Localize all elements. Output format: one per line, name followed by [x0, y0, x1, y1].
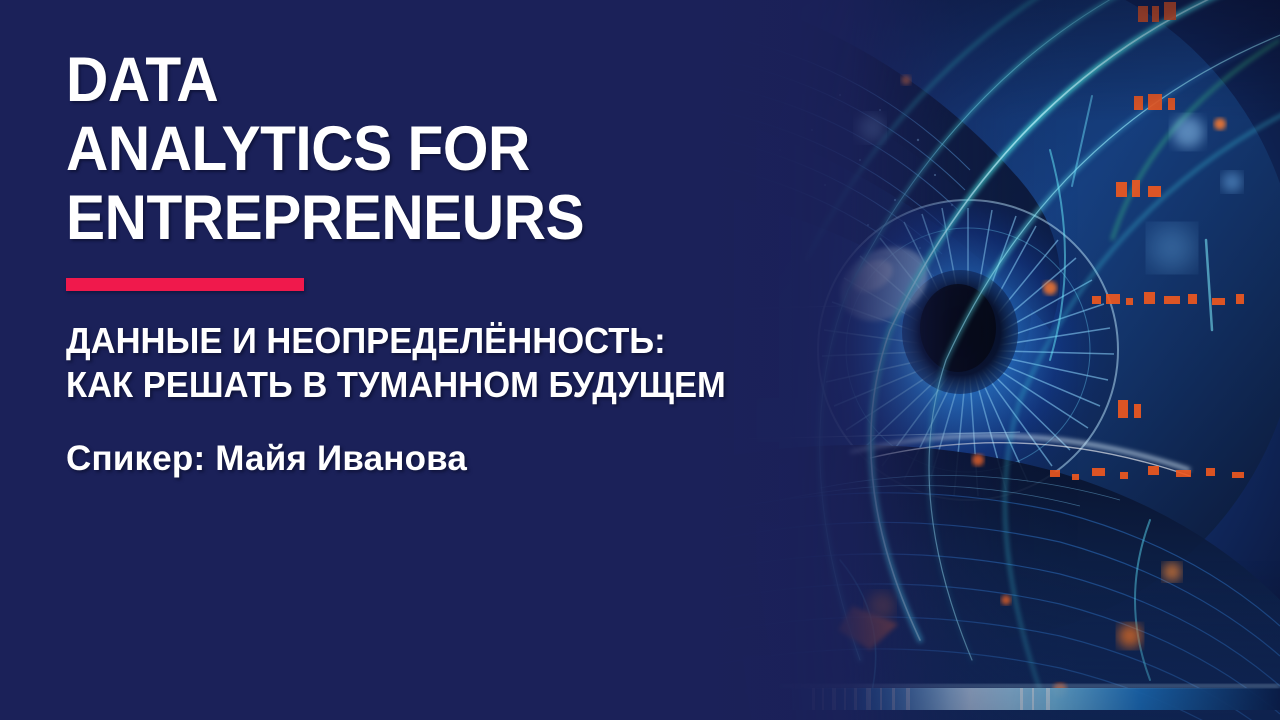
subtitle-line-1: ДАННЫЕ И НЕОПРЕДЕЛЁННОСТЬ: — [66, 319, 1026, 363]
title-line-1: DATA — [66, 46, 996, 115]
title-line-3: ENTREPRENEURS — [66, 184, 996, 253]
accent-divider-bar — [66, 278, 304, 291]
presentation-title-slide: DATA ANALYTICS FOR ENTREPRENEURS ДАННЫЕ … — [0, 0, 1280, 720]
subtitle-line-2: КАК РЕШАТЬ В ТУМАННОМ БУДУЩЕМ — [66, 363, 1026, 407]
slide-text-block: DATA ANALYTICS FOR ENTREPRENEURS ДАННЫЕ … — [66, 46, 1066, 480]
speaker-name: Спикер: Майя Иванова — [66, 438, 1066, 480]
title-line-2: ANALYTICS FOR — [66, 115, 996, 184]
